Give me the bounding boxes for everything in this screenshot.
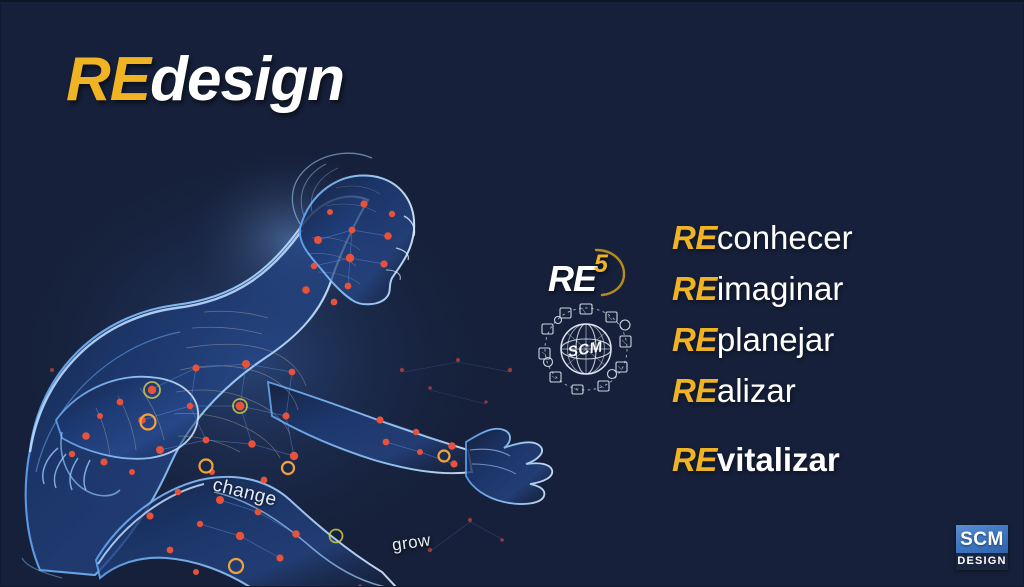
re-prefix: RE (672, 441, 717, 478)
wireframe-runner-illustration: change grow run (0, 120, 620, 587)
re-word-list: REconhecer REimaginar REplanejar REaliza… (672, 212, 853, 485)
re5-badge: RE 5 SCM (530, 250, 650, 400)
re-suffix: imaginar (717, 270, 844, 307)
list-item-reimaginar: REimaginar (672, 263, 853, 314)
title-prefix: RE (66, 45, 150, 114)
re-prefix: RE (672, 372, 717, 409)
re5-arc-icon (582, 246, 630, 298)
re-suffix: vitalizar (717, 441, 840, 478)
logo-sub-text: DESIGN (956, 553, 1008, 570)
page-title: REdesign (66, 44, 344, 115)
re-prefix: RE (672, 321, 717, 358)
re-prefix: RE (672, 270, 717, 307)
scm-globe-icon: SCM (536, 302, 636, 397)
re-prefix: RE (672, 219, 717, 256)
list-item-reconhecer: REconhecer (672, 212, 853, 263)
scm-design-logo: SCM DESIGN (956, 525, 1008, 570)
list-item-realizar: REalizar (672, 365, 853, 416)
presentation-slide: REdesign (0, 0, 1024, 587)
logo-badge-text: SCM (956, 525, 1008, 553)
list-item-replanejar: REplanejar (672, 314, 853, 365)
re-suffix: conhecer (717, 219, 853, 256)
title-suffix: design (150, 45, 344, 114)
list-item-revitalizar: REvitalizar (672, 434, 853, 485)
re-suffix: alizar (717, 372, 796, 409)
re-suffix: planejar (717, 321, 834, 358)
